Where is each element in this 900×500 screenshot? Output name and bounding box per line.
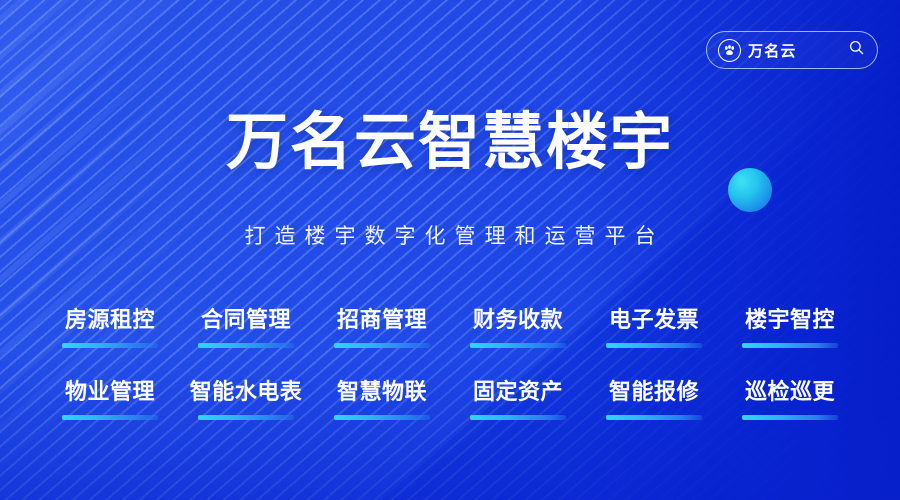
- feature-tag-underline: [198, 343, 294, 348]
- feature-tag-underline: [62, 343, 158, 348]
- brand-search-box[interactable]: 万名云: [706, 31, 878, 69]
- feature-row-2: 物业管理 智能水电表 智慧物联 固定资产 智能报修 巡检巡更: [42, 380, 858, 420]
- feature-tag-underline: [606, 343, 702, 348]
- promo-banner: 万名云 万名云智慧楼宇 打造楼宇数字化管理和运营平台 房源租控 合同管理: [0, 0, 900, 500]
- feature-tag-zhaoshangguanli[interactable]: 招商管理: [314, 308, 450, 348]
- feature-tag-underline: [742, 343, 838, 348]
- feature-tag-label: 固定资产: [450, 380, 586, 403]
- feature-tag-label: 智能水电表: [178, 380, 314, 403]
- feature-tag-xunjianxungeng[interactable]: 巡检巡更: [722, 380, 858, 420]
- feature-tag-zhinengshuidianbiao[interactable]: 智能水电表: [178, 380, 314, 420]
- brand-label: 万名云: [748, 40, 841, 61]
- paw-badge-icon: [718, 39, 741, 62]
- feature-tag-label: 财务收款: [450, 308, 586, 331]
- accent-dot-icon: [728, 168, 772, 212]
- feature-tag-underline: [334, 415, 430, 420]
- page-subtitle: 打造楼宇数字化管理和运营平台: [236, 226, 665, 247]
- hero-subtitle-row: 打造楼宇数字化管理和运营平台: [0, 226, 900, 248]
- feature-tag-label: 智慧物联: [314, 380, 450, 403]
- feature-tag-label: 巡检巡更: [722, 380, 858, 403]
- feature-tag-label: 电子发票: [586, 308, 722, 331]
- feature-tag-zhinengbaoxiu[interactable]: 智能报修: [586, 380, 722, 420]
- page-title: 万名云智慧楼宇: [226, 112, 674, 174]
- feature-tag-label: 合同管理: [178, 308, 314, 331]
- feature-tag-label: 招商管理: [314, 308, 450, 331]
- feature-tag-underline: [742, 415, 838, 420]
- feature-tag-underline: [62, 415, 158, 420]
- feature-tag-label: 智能报修: [586, 380, 722, 403]
- feature-tag-underline: [470, 343, 566, 348]
- feature-tag-label: 楼宇智控: [722, 308, 858, 331]
- feature-tag-wuyeguanli[interactable]: 物业管理: [42, 380, 178, 420]
- feature-tag-underline: [606, 415, 702, 420]
- feature-tag-hetongguanli[interactable]: 合同管理: [178, 308, 314, 348]
- feature-tag-zhihuiwulian[interactable]: 智慧物联: [314, 380, 450, 420]
- feature-tag-caiwushoukuan[interactable]: 财务收款: [450, 308, 586, 348]
- feature-tag-grid: 房源租控 合同管理 招商管理 财务收款 电子发票 楼宇智控: [42, 308, 858, 420]
- feature-tag-label: 物业管理: [42, 380, 178, 403]
- feature-tag-louyuzhikong[interactable]: 楼宇智控: [722, 308, 858, 348]
- feature-row-1: 房源租控 合同管理 招商管理 财务收款 电子发票 楼宇智控: [42, 308, 858, 348]
- feature-tag-underline: [334, 343, 430, 348]
- feature-tag-underline: [198, 415, 294, 420]
- search-icon[interactable]: [848, 39, 865, 61]
- feature-tag-underline: [470, 415, 566, 420]
- feature-tag-gudingzichan[interactable]: 固定资产: [450, 380, 586, 420]
- feature-tag-dianzifapiao[interactable]: 电子发票: [586, 308, 722, 348]
- hero-title-row: 万名云智慧楼宇: [0, 112, 900, 174]
- feature-tag-label: 房源租控: [42, 308, 178, 331]
- feature-tag-fangyuanzukong[interactable]: 房源租控: [42, 308, 178, 348]
